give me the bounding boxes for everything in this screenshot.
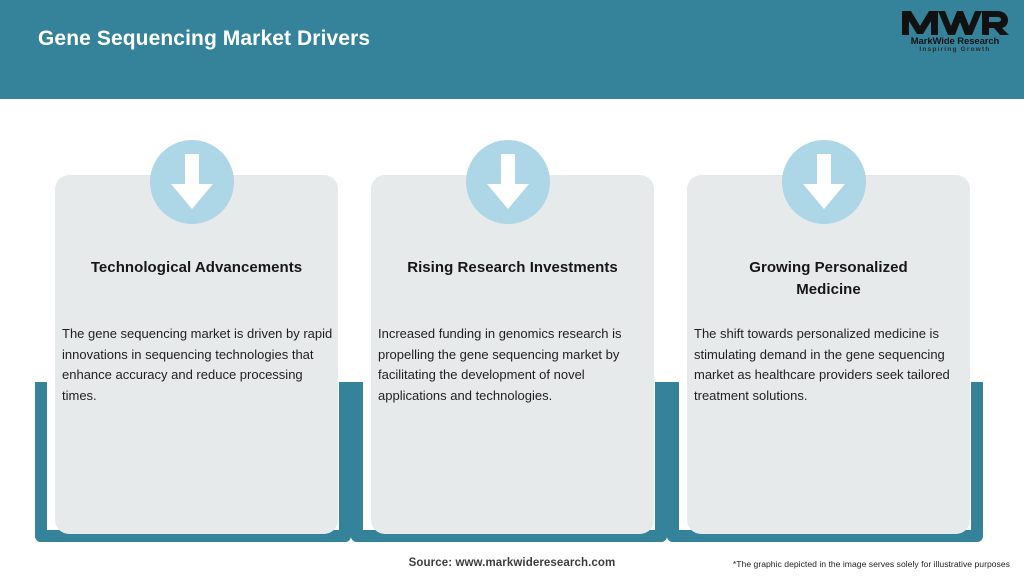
card-body-2: Increased funding in genomics research i… [378,324,650,406]
card-icon-circle-1 [150,140,234,224]
logo-tagline: Inspiring Growth [900,46,1010,53]
driver-card-2: Rising Research Investments Increased fu… [351,99,667,576]
card-body-1: The gene sequencing market is driven by … [62,324,334,406]
card-title-2: Rising Research Investments [379,257,646,279]
card-panel-3[interactable]: Growing Personalized Medicine The shift … [687,175,970,534]
mwr-monogram-icon [900,9,1010,36]
disclaimer-label: *The graphic depicted in the image serve… [733,559,1010,569]
driver-card-1: Technological Advancements The gene sequ… [35,99,351,576]
card-panel-1[interactable]: Technological Advancements The gene sequ… [55,175,338,534]
card-panel-2[interactable]: Rising Research Investments Increased fu… [371,175,654,534]
brand-logo: MarkWide Research Inspiring Growth [900,9,1010,57]
card-icon-circle-2 [466,140,550,224]
down-arrow-icon [485,154,531,210]
driver-card-3: Growing Personalized Medicine The shift … [667,99,983,576]
down-arrow-icon [169,154,215,210]
card-title-3: Growing Personalized Medicine [723,257,934,301]
down-arrow-icon [801,154,847,210]
drivers-board: Technological Advancements The gene sequ… [0,99,1024,576]
card-icon-circle-3 [782,140,866,224]
header-bar: Gene Sequencing Market Drivers MarkWide … [0,0,1024,99]
page-title: Gene Sequencing Market Drivers [38,27,370,51]
card-body-3: The shift towards personalized medicine … [694,324,966,406]
card-title-1: Technological Advancements [63,257,330,279]
